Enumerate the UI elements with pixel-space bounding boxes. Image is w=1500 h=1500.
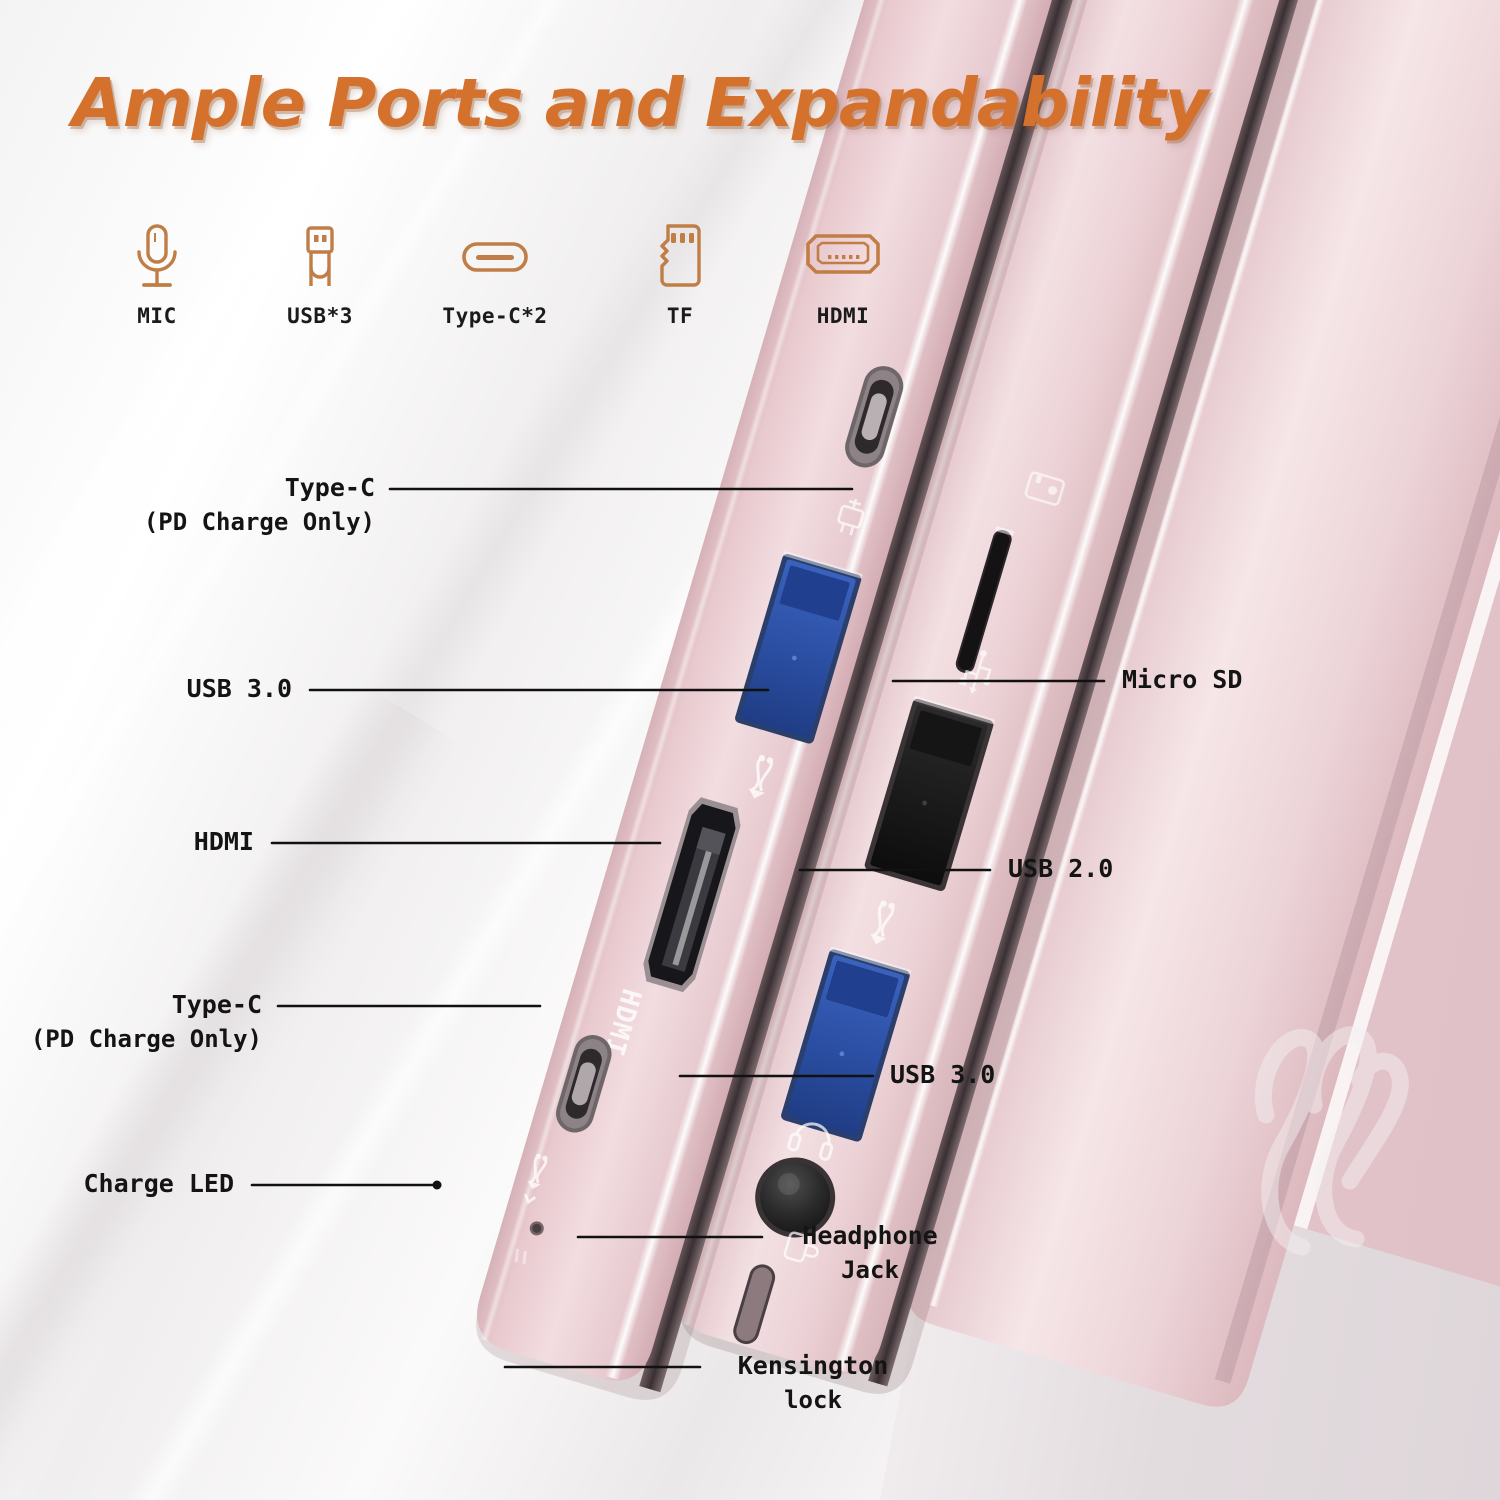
feature-label: TF — [605, 304, 755, 328]
feature-hdmi: HDMI — [768, 222, 918, 328]
callout-headphone-jack: Headphone Jack — [780, 1218, 960, 1288]
hdmi-port-icon — [768, 222, 918, 292]
brand-script-watermark — [1210, 995, 1440, 1275]
callout-line1: Charge LED — [83, 1169, 234, 1198]
callout-usb-20: USB 2.0 — [1008, 851, 1113, 886]
callout-line2: Jack — [780, 1253, 960, 1288]
callout-line1: Kensington — [738, 1351, 889, 1380]
callout-line1: HDMI — [194, 827, 254, 856]
callout-type-c-top: Type-C (PD Charge Only) — [110, 470, 375, 540]
usb-c-connector-icon — [420, 222, 570, 292]
callout-line1: Type-C — [285, 473, 375, 502]
callout-line1: Headphone — [802, 1221, 937, 1250]
callout-charge-led: Charge LED — [30, 1166, 234, 1201]
callout-line1: USB 3.0 — [890, 1060, 995, 1089]
microphone-icon — [82, 222, 232, 292]
feature-tf: TF — [605, 222, 755, 328]
callout-line2: (PD Charge Only) — [30, 1022, 262, 1057]
callout-micro-sd: Micro SD — [1122, 662, 1242, 697]
callout-line1: USB 2.0 — [1008, 854, 1113, 883]
usb-a-plug-icon — [245, 222, 395, 292]
callout-line1: USB 3.0 — [187, 674, 292, 703]
tf-card-icon — [605, 222, 755, 292]
feature-mic: MIC — [82, 222, 232, 328]
feature-label: HDMI — [768, 304, 918, 328]
page-title: Ample Ports and Expandability — [72, 64, 1208, 142]
callout-type-c-bottom: Type-C (PD Charge Only) — [30, 987, 262, 1057]
feature-label: MIC — [82, 304, 232, 328]
callout-line2: (PD Charge Only) — [110, 505, 375, 540]
feature-typec: Type-C*2 — [420, 222, 570, 328]
callout-kensington: Kensington lock — [718, 1348, 908, 1418]
callout-usb-30-bottom: USB 3.0 — [890, 1057, 995, 1092]
feature-usb: USB*3 — [245, 222, 395, 328]
callout-line2: lock — [718, 1383, 908, 1418]
infographic-canvas: HDMI — [0, 0, 1500, 1500]
feature-label: Type-C*2 — [420, 304, 570, 328]
feature-icon-row: MIC USB*3 Type-C*2 — [60, 222, 890, 342]
callout-hdmi: HDMI — [60, 824, 254, 859]
callout-usb-30-top: USB 3.0 — [60, 671, 292, 706]
callout-line1: Type-C — [172, 990, 262, 1019]
feature-label: USB*3 — [245, 304, 395, 328]
callout-line1: Micro SD — [1122, 665, 1242, 694]
